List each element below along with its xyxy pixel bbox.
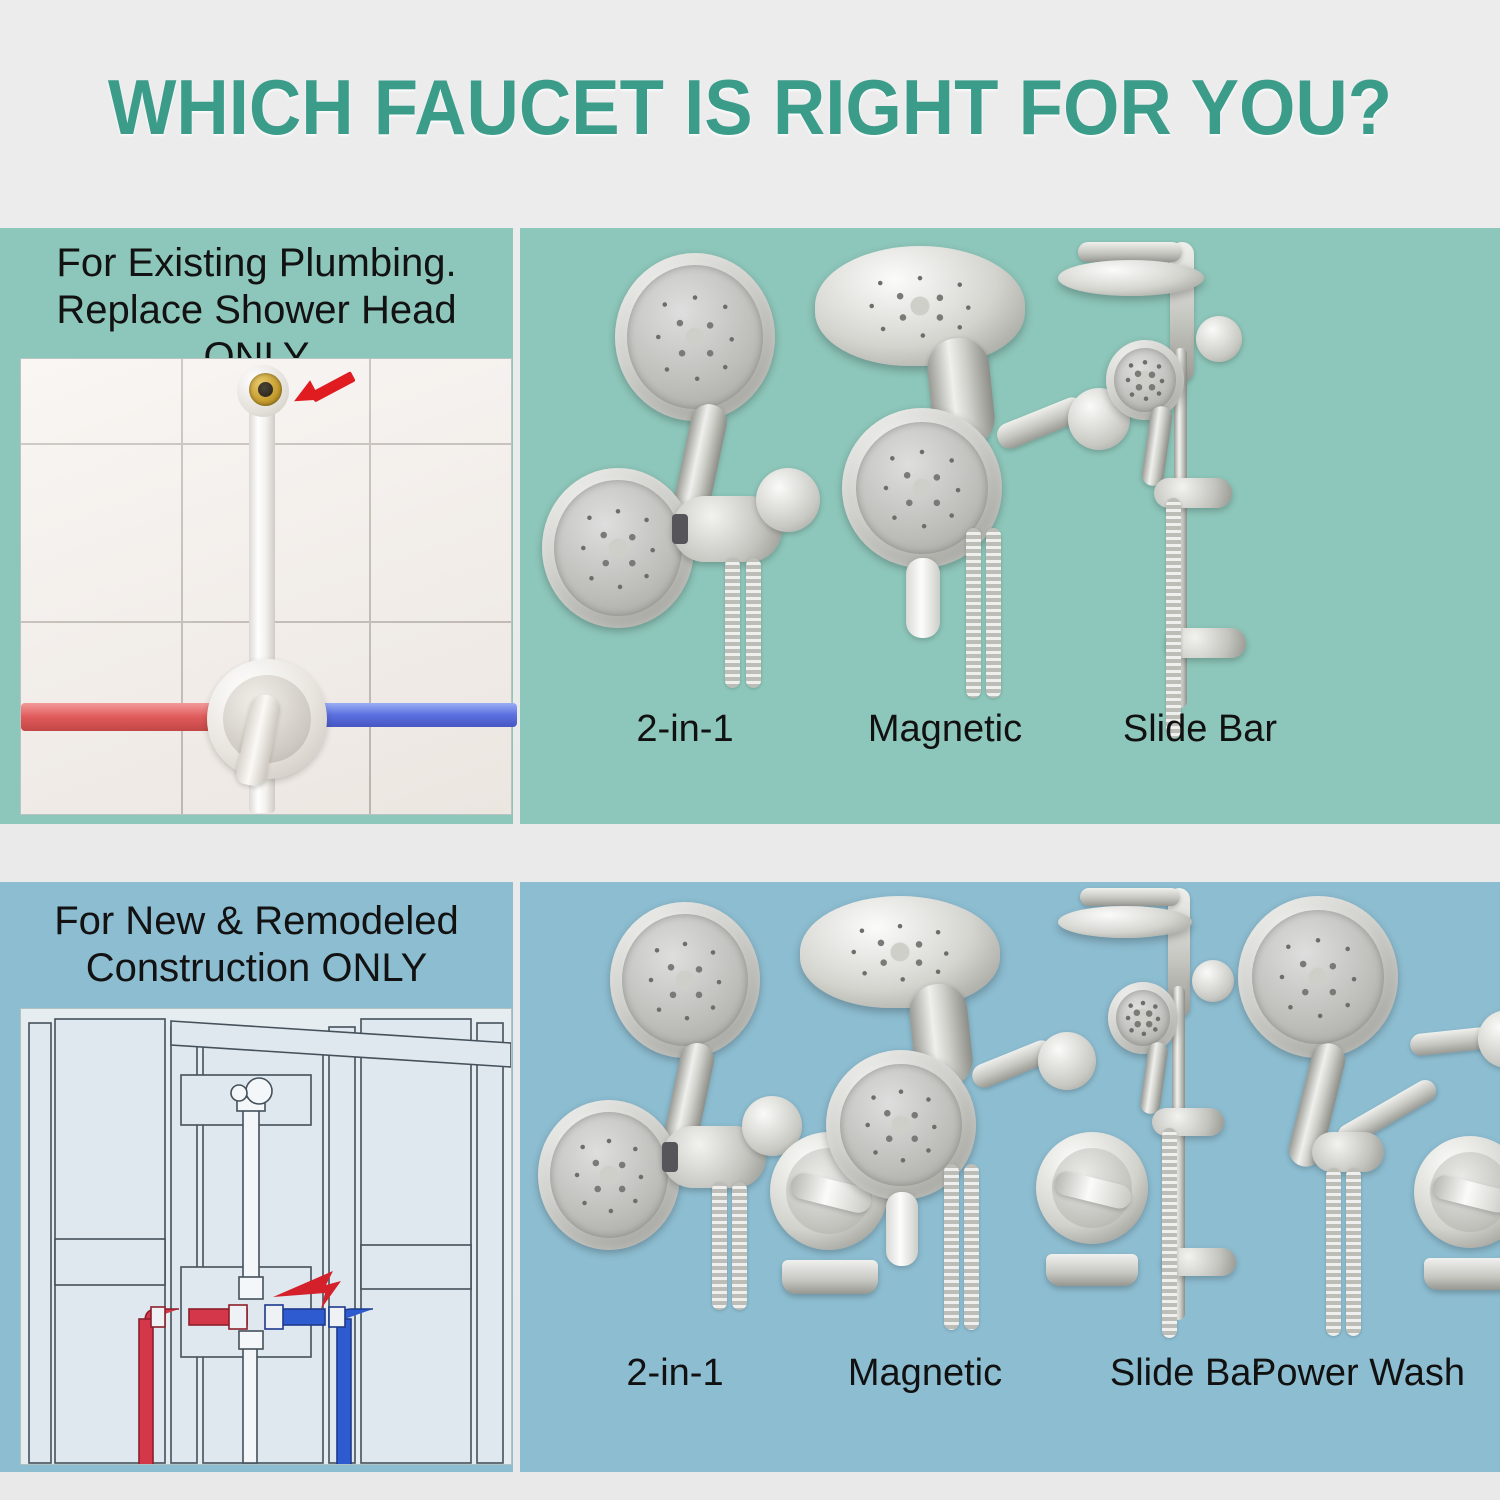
spray-jets: [1121, 996, 1164, 1041]
spray-jets: [832, 914, 968, 990]
brass-shower-arm-outlet: [249, 373, 282, 406]
handheld-shower-head: [610, 902, 760, 1058]
spray-jets: [852, 1076, 950, 1174]
tile-wall: [21, 359, 511, 814]
handheld-mount-bracket[interactable]: [1312, 1132, 1384, 1172]
spray-face: [1114, 348, 1176, 412]
spray-face: [550, 1112, 668, 1238]
riser-gooseneck-horizontal: [1080, 888, 1180, 906]
diverter-toggle[interactable]: [662, 1142, 678, 1172]
spray-face: [622, 914, 748, 1046]
handheld-grip: [906, 558, 940, 638]
spray-jets: [849, 265, 992, 347]
wall-flange: [1038, 1032, 1096, 1090]
valve-trim-plate: [1036, 1132, 1148, 1244]
spray-jets: [641, 279, 750, 394]
wall-flange: [756, 468, 820, 532]
flexible-hose: [964, 1164, 979, 1330]
diverter-toggle[interactable]: [672, 514, 688, 544]
handheld-grip: [886, 1192, 918, 1266]
tub-spout: [782, 1260, 878, 1294]
spray-jets: [869, 435, 975, 541]
product-label: Power Wash: [1178, 1352, 1500, 1395]
shower-valve-escutcheon: [207, 659, 327, 779]
riser-gooseneck-horizontal: [1078, 242, 1182, 262]
page-title: WHICH FAUCET IS RIGHT FOR YOU?: [53, 62, 1448, 153]
spray-jets: [1120, 354, 1170, 405]
spray-jets: [1265, 923, 1371, 1030]
flexible-hose: [712, 1182, 727, 1310]
spray-face: [627, 265, 763, 409]
fixed-shower-head: [542, 468, 694, 628]
caption-new-construction: For New & Remodeled Construction ONLY: [0, 898, 513, 992]
flexible-hose: [1162, 1128, 1177, 1338]
handheld-shower-head: [1108, 982, 1178, 1054]
rain-shower-head: [815, 246, 1025, 366]
round-rain-head: [1058, 906, 1192, 938]
caption-line-1: For New & Remodeled: [0, 898, 513, 945]
flexible-hose: [986, 528, 1001, 698]
spray-face: [1252, 910, 1384, 1044]
infographic-page: WHICH FAUCET IS RIGHT FOR YOU? For Exist…: [0, 0, 1500, 1500]
spray-jets: [562, 1125, 656, 1226]
rain-shower-head: [800, 896, 1000, 1008]
fixed-shower-head: [538, 1100, 680, 1250]
flexible-hose: [732, 1182, 747, 1310]
spray-face: [554, 480, 682, 616]
slide-bar-wall-bracket-top: [1196, 316, 1242, 362]
stud-rough-in-diagram: [20, 1008, 512, 1465]
flexible-hose: [746, 558, 761, 688]
tub-spout: [1424, 1258, 1500, 1290]
power-wash-handheld-head: [1238, 896, 1398, 1058]
spray-jets: [567, 494, 669, 603]
caption-line-2: Construction ONLY: [0, 945, 513, 992]
valve-trim-plate: [1414, 1136, 1500, 1248]
slide-bar-wall-bracket-top: [1192, 960, 1234, 1002]
spray-jets: [635, 927, 736, 1033]
flexible-hose: [725, 558, 740, 688]
panel-products-existing: 2-in-1 Magnetic: [520, 228, 1500, 824]
spray-face: [1116, 990, 1170, 1046]
handheld-shower-head: [1106, 340, 1184, 420]
flexible-hose: [966, 528, 981, 698]
product-label: Slide Bar: [1030, 708, 1370, 751]
tiled-wall-photo: [20, 358, 512, 815]
flexible-hose: [1166, 498, 1181, 738]
wall-flange: [1478, 1010, 1500, 1068]
hot-water-supply-pipe: [21, 703, 221, 731]
flexible-hose: [1346, 1168, 1361, 1336]
caption-line-1: For Existing Plumbing.: [0, 240, 513, 287]
stud-diagram-svg: [21, 1009, 511, 1464]
handheld-shower-head: [615, 253, 775, 421]
tub-spout: [1046, 1254, 1138, 1286]
panel-products-new-construction: 2-in-1 Magnetic: [520, 882, 1500, 1472]
flexible-hose: [944, 1164, 959, 1330]
flexible-hose: [1326, 1168, 1341, 1336]
cold-water-supply-pipe: [317, 703, 517, 727]
round-rain-head: [1058, 260, 1204, 296]
